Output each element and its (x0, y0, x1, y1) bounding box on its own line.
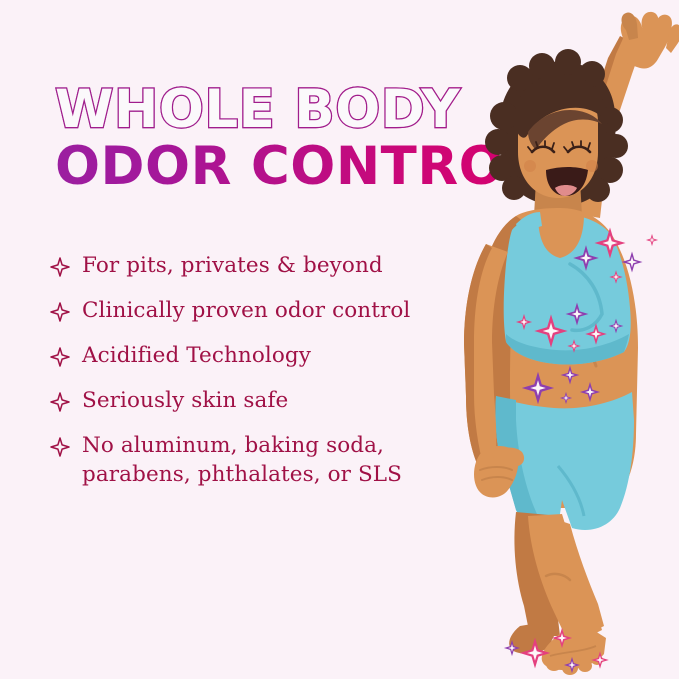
list-item: Acidified Technology (50, 342, 480, 371)
benefits-list: For pits, privates & beyond Clinically p… (50, 252, 480, 489)
list-item-label: Clinically proven odor control (82, 297, 410, 326)
list-item-label: No aluminum, baking soda, parabens, phth… (82, 432, 402, 489)
list-item-label: Acidified Technology (82, 342, 311, 371)
smiling-woman-arm-raised-illustration (420, 0, 679, 679)
four-point-star-icon (50, 257, 70, 281)
product-benefits-ad: WHOLE BODY ODOR CONTROL For pits, privat… (0, 0, 679, 679)
list-item-label: For pits, privates & beyond (82, 252, 383, 281)
list-item-label: Seriously skin safe (82, 387, 288, 416)
four-point-star-icon (50, 347, 70, 371)
four-point-star-icon (50, 302, 70, 326)
list-item: Clinically proven odor control (50, 297, 480, 326)
four-point-star-icon (50, 392, 70, 416)
list-item: No aluminum, baking soda, parabens, phth… (50, 432, 480, 489)
left-hand-fingers (492, 448, 524, 467)
list-item: Seriously skin safe (50, 387, 480, 416)
cheek-left (524, 160, 536, 172)
four-point-star-icon (50, 437, 70, 461)
list-item: For pits, privates & beyond (50, 252, 480, 281)
